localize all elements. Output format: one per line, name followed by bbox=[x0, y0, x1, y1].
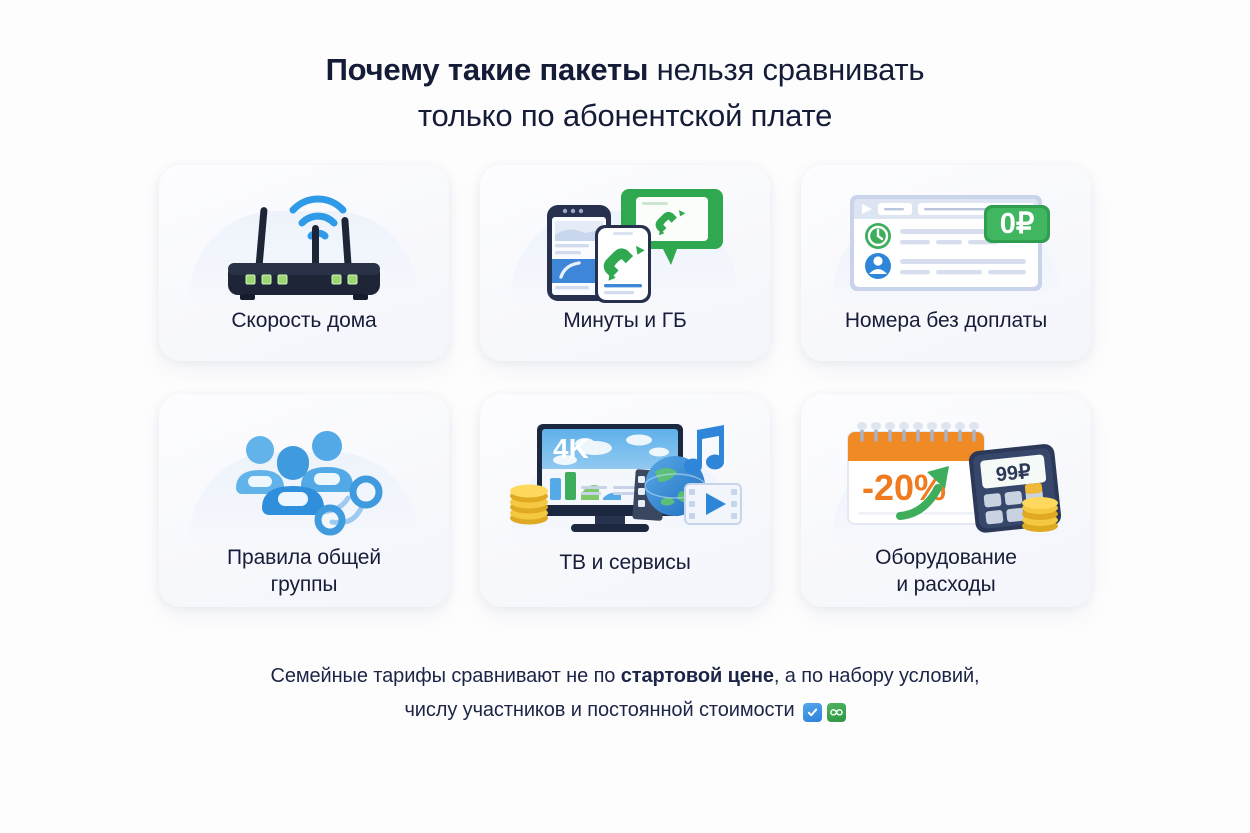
card-artwork: 4K bbox=[503, 414, 747, 544]
card-tv-and-services[interactable]: 4K bbox=[480, 394, 770, 607]
card-artwork bbox=[182, 414, 426, 544]
card-label-line: ТВ и сервисы bbox=[559, 551, 690, 574]
card-label: Скорость дома bbox=[219, 307, 388, 335]
title-regular-part: нельзя сравнивать bbox=[648, 52, 924, 87]
card-label: Оборудование и расходы bbox=[863, 544, 1029, 599]
footer-bold-part: стартовой цене bbox=[621, 665, 774, 687]
wifi-router-icon bbox=[182, 181, 426, 303]
card-label: Правила общей группы bbox=[215, 544, 393, 599]
card-label-line: Минуты и ГБ bbox=[563, 309, 687, 332]
card-label-line: Номера без доплаты bbox=[845, 309, 1047, 332]
card-shared-group-rules[interactable]: Правила общей группы bbox=[159, 394, 449, 607]
card-artwork bbox=[503, 181, 747, 303]
zero-price-badge-text: 0₽ bbox=[1000, 208, 1035, 240]
title-line-1: Почему такие пакеты нельзя сравнивать bbox=[326, 50, 925, 90]
card-artwork: 0₽ bbox=[824, 181, 1068, 303]
check-icon bbox=[807, 707, 818, 718]
card-artwork: -20% 99₽ bbox=[824, 414, 1068, 544]
footer-badges bbox=[803, 703, 846, 722]
infinity-badge-icon bbox=[827, 703, 846, 722]
card-label: Минуты и ГБ bbox=[551, 307, 699, 335]
infographic-page: Почему такие пакеты нельзя сравнивать то… bbox=[0, 0, 1250, 833]
card-label-line: Правила общей bbox=[227, 546, 381, 569]
calendar-discount-calculator-icon: -20% 99₽ bbox=[824, 414, 1068, 544]
footer-text-part-1: Семейные тарифы сравнивают не по bbox=[271, 665, 621, 687]
title-line-2: только по абонентской плате bbox=[326, 96, 925, 136]
card-label: ТВ и сервисы bbox=[547, 549, 702, 577]
card-numbers-without-surcharge[interactable]: 0₽ Номера без доплаты bbox=[801, 165, 1091, 361]
footer-text-line-2: числу участников и постоянной стоимости bbox=[404, 699, 794, 721]
footer-line-2: числу участников и постоянной стоимости bbox=[271, 693, 980, 727]
calculator-display-text: 99₽ bbox=[995, 460, 1032, 486]
footer-note: Семейные тарифы сравнивают не по стартов… bbox=[271, 659, 980, 728]
card-label: Номера без доплаты bbox=[833, 307, 1059, 335]
card-artwork bbox=[182, 181, 426, 303]
card-label-line: Скорость дома bbox=[231, 309, 376, 332]
footer-text-part-2: , а по набору условий, bbox=[774, 665, 980, 687]
title-bold-part: Почему такие пакеты bbox=[326, 52, 649, 87]
infinity-icon bbox=[830, 707, 843, 718]
two-phones-call-icon bbox=[503, 181, 747, 303]
card-speed-at-home[interactable]: Скорость дома bbox=[159, 165, 449, 361]
card-label-line: и расходы bbox=[896, 573, 995, 596]
card-equipment-and-costs[interactable]: -20% 99₽ bbox=[801, 394, 1091, 607]
feature-card-grid: Скорость дома bbox=[125, 165, 1125, 607]
window-zero-price-icon: 0₽ bbox=[824, 181, 1068, 303]
card-label-line: Оборудование bbox=[875, 546, 1017, 569]
card-minutes-and-gb[interactable]: Минуты и ГБ bbox=[480, 165, 770, 361]
footer-line-1: Семейные тарифы сравнивают не по стартов… bbox=[271, 659, 980, 693]
page-title: Почему такие пакеты нельзя сравнивать то… bbox=[326, 50, 925, 137]
tv-4k-badge-text: 4K bbox=[553, 433, 589, 464]
check-badge-icon bbox=[803, 703, 822, 722]
people-group-network-icon bbox=[182, 414, 426, 544]
card-label-line: группы bbox=[271, 573, 338, 596]
tv-globe-media-icon: 4K bbox=[503, 414, 747, 544]
